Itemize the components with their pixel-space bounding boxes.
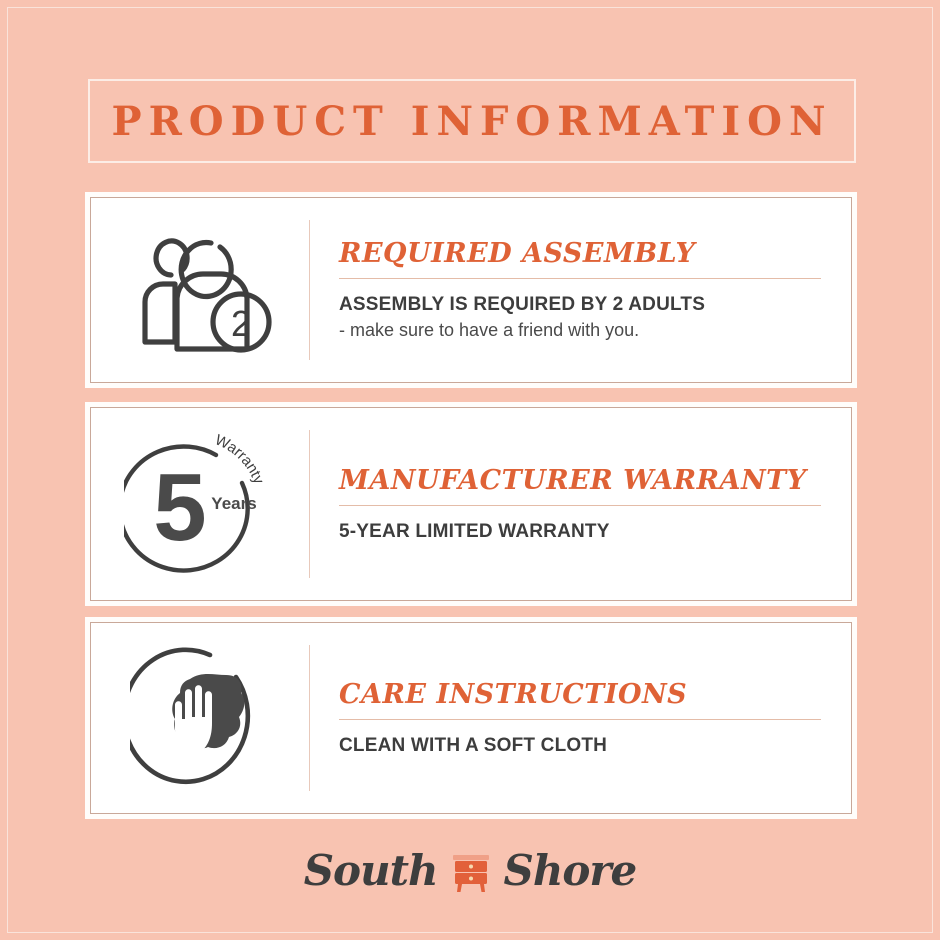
text-column: CARE INSTRUCTIONS CLEAN WITH A SOFT CLOT… xyxy=(310,679,851,758)
text-column: MANUFACTURER WARRANTY 5-YEAR LIMITED WAR… xyxy=(310,465,851,544)
info-card-inner: CARE INSTRUCTIONS CLEAN WITH A SOFT CLOT… xyxy=(90,622,852,814)
icon-column xyxy=(91,645,309,791)
warranty-years-number: 5 xyxy=(153,454,206,561)
heading-rule xyxy=(339,505,821,506)
card-heading-required-assembly: REQUIRED ASSEMBLY xyxy=(339,238,821,269)
two-people-badge-count: 2 xyxy=(231,303,251,344)
card-primary-text: 5-YEAR LIMITED WARRANTY xyxy=(339,520,821,544)
five-year-warranty-icon: 5 Years Warranty xyxy=(124,429,276,579)
nightstand-icon xyxy=(448,848,494,894)
info-card-required-assembly: 2 REQUIRED ASSEMBLY ASSEMBLY IS REQUIRED… xyxy=(85,192,857,388)
card-heading-manufacturer-warranty: MANUFACTURER WARRANTY xyxy=(339,465,821,496)
card-heading-care-instructions: CARE INSTRUCTIONS xyxy=(339,679,821,710)
product-information-page: PRODUCT INFORMATION xyxy=(0,0,940,940)
page-title: PRODUCT INFORMATION xyxy=(111,98,832,145)
heading-rule xyxy=(339,719,821,720)
text-column: REQUIRED ASSEMBLY ASSEMBLY IS REQUIRED B… xyxy=(310,238,851,341)
heading-rule xyxy=(339,278,821,279)
two-people-icon: 2 xyxy=(125,226,275,354)
info-card-inner: 2 REQUIRED ASSEMBLY ASSEMBLY IS REQUIRED… xyxy=(90,197,852,383)
brand-logo-word-south: South xyxy=(304,846,438,895)
warranty-arc-label-path: Warranty xyxy=(212,431,267,486)
brand-logo-word-shore: Shore xyxy=(504,846,637,895)
info-card-manufacturer-warranty: 5 Years Warranty MANUFACTURER WARRANTY 5… xyxy=(85,402,857,606)
warranty-arc-label: Warranty xyxy=(212,431,267,486)
icon-column: 5 Years Warranty xyxy=(91,429,309,579)
info-card-care-instructions: CARE INSTRUCTIONS CLEAN WITH A SOFT CLOT… xyxy=(85,617,857,819)
card-secondary-text: - make sure to have a friend with you. xyxy=(339,319,821,342)
card-primary-text: ASSEMBLY IS REQUIRED BY 2 ADULTS xyxy=(339,293,821,317)
page-title-banner: PRODUCT INFORMATION xyxy=(88,79,856,163)
info-card-inner: 5 Years Warranty MANUFACTURER WARRANTY 5… xyxy=(90,407,852,601)
hand-with-cloth-icon xyxy=(130,645,270,791)
brand-logo: South Shore xyxy=(0,846,940,895)
warranty-years-unit: Years xyxy=(211,494,256,513)
icon-column: 2 xyxy=(91,226,309,354)
card-primary-text: CLEAN WITH A SOFT CLOTH xyxy=(339,734,821,758)
